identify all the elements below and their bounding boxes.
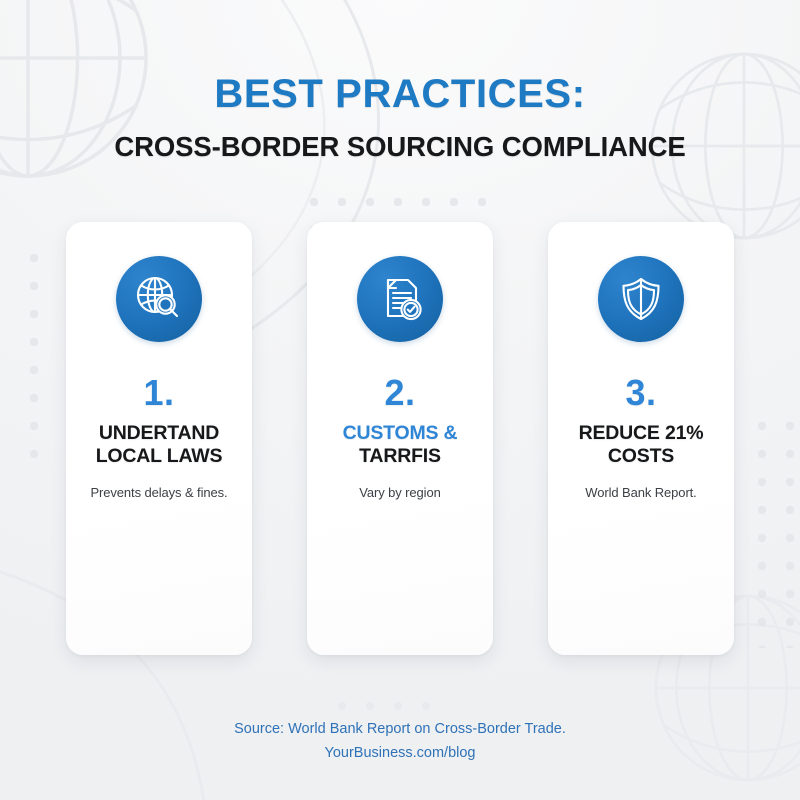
lower-center-dot-grid [330, 686, 450, 720]
practice-card-3[interactable]: 3. REDUCE 21% COSTS World Bank Report. [548, 222, 734, 655]
right-dot-grid [758, 418, 800, 648]
practice-card-2[interactable]: 2. CUSTOMS & TARRFIS Vary by region [307, 222, 493, 655]
card-headline-line2: TARRFIS [311, 445, 489, 468]
card-number: 3. [548, 372, 734, 414]
footer: Source: World Bank Report on Cross-Borde… [0, 718, 800, 766]
left-dot-grid [22, 248, 58, 458]
practice-card-1[interactable]: 1. UNDERTAND LOCAL LAWS Prevents delays … [66, 222, 252, 655]
card-headline: REDUCE 21% COSTS [552, 422, 730, 468]
card-headline-line1: UNDERTAND [70, 422, 248, 445]
card-headline: UNDERTAND LOCAL LAWS [70, 422, 248, 468]
card-number: 2. [307, 372, 493, 414]
header: BEST PRACTICES: CROSS-BORDER SOURCING CO… [0, 0, 800, 163]
card-headline-line1: CUSTOMS & [311, 422, 489, 445]
card-headline-line2: COSTS [552, 445, 730, 468]
card-headline: CUSTOMS & TARRFIS [311, 422, 489, 468]
page-subtitle: CROSS-BORDER SOURCING COMPLIANCE [0, 131, 800, 163]
card-headline-line1: REDUCE 21% [552, 422, 730, 445]
document-check-icon [357, 256, 443, 342]
card-headline-line2: LOCAL LAWS [70, 445, 248, 468]
footer-url-link[interactable]: YourBusiness.com/blog [0, 742, 800, 766]
globe-search-icon [116, 256, 202, 342]
card-subtext: World Bank Report. [550, 485, 732, 500]
card-subtext: Vary by region [309, 485, 491, 500]
footer-source-text: Source: World Bank Report on Cross-Borde… [234, 721, 566, 737]
card-subtext: Prevents delays & fines. [68, 485, 250, 500]
page-title: BEST PRACTICES: [0, 72, 800, 117]
card-number: 1. [66, 372, 252, 414]
cards-container: 1. UNDERTAND LOCAL LAWS Prevents delays … [66, 222, 734, 655]
shield-icon [598, 256, 684, 342]
